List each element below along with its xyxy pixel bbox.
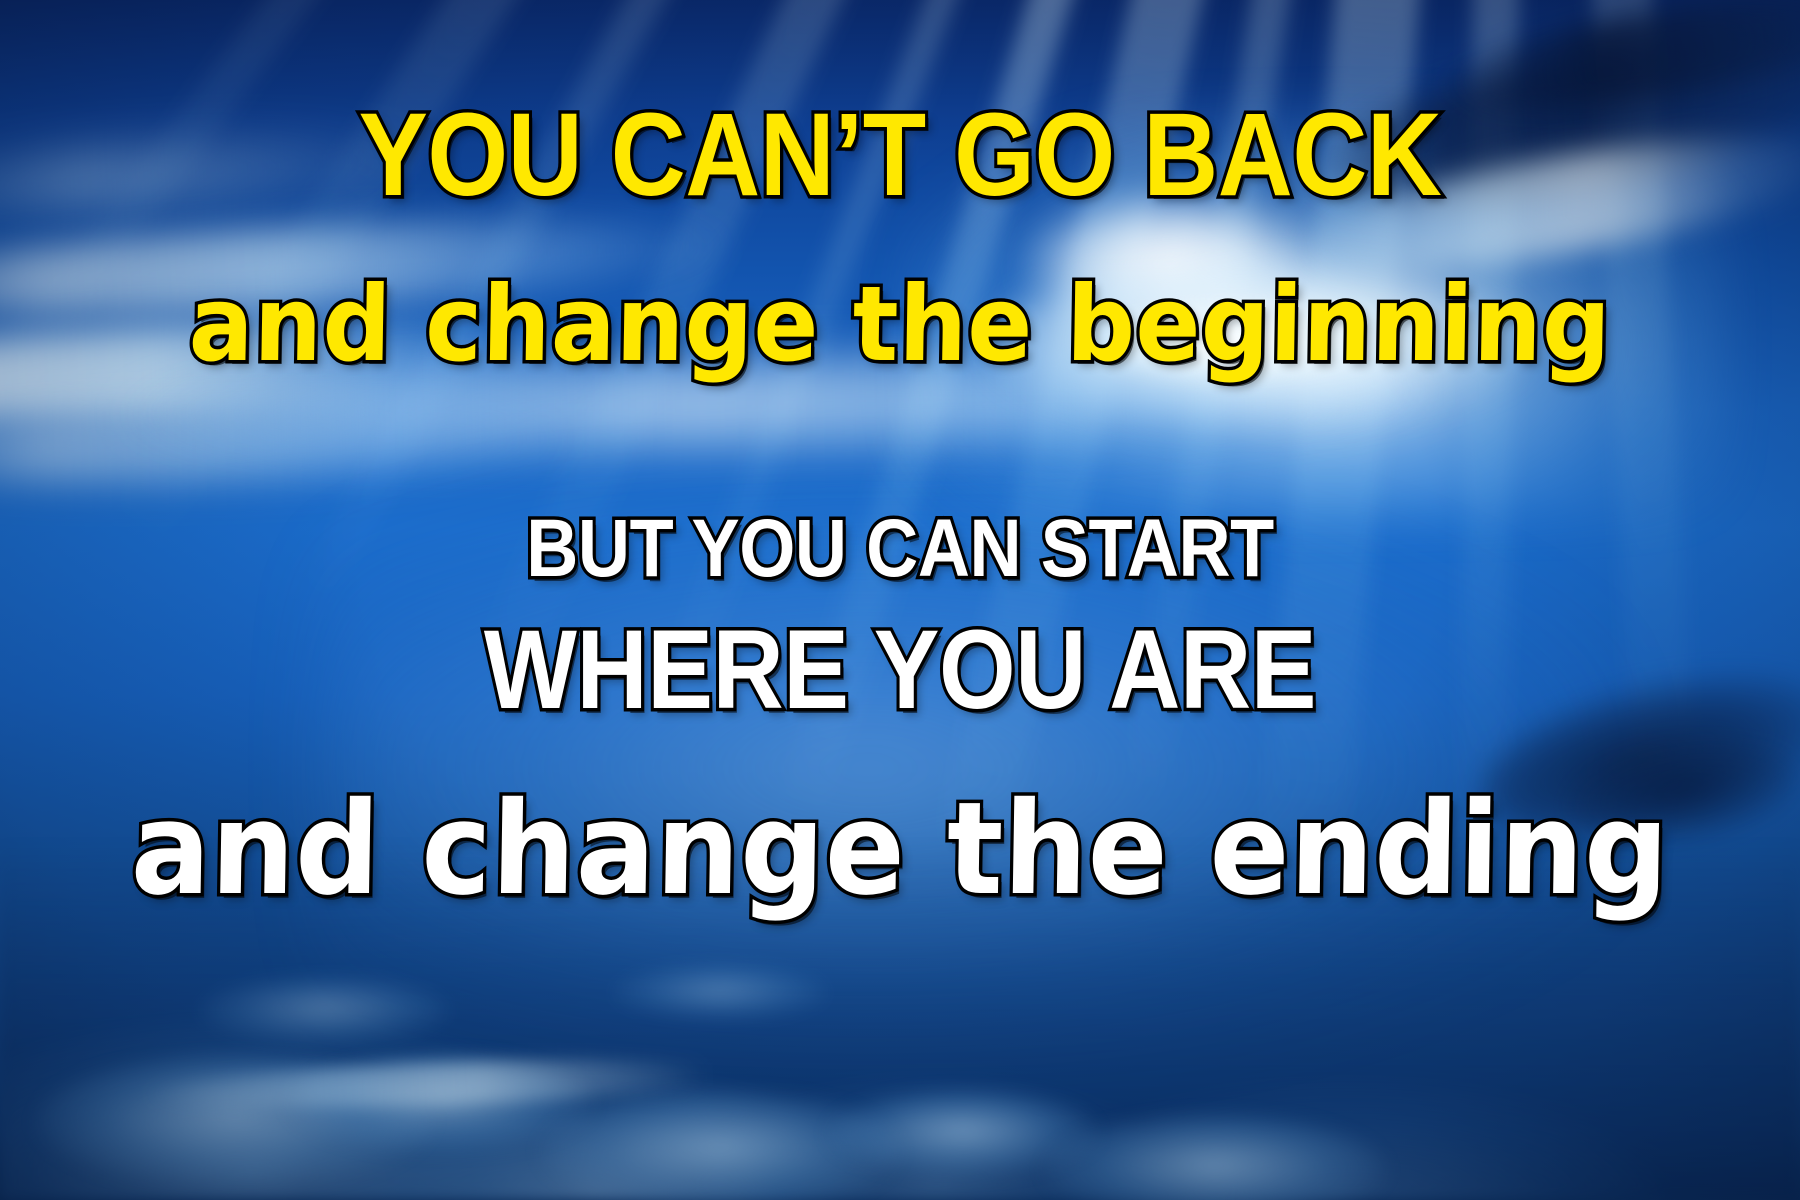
quote-text-block: YOU CAN’T GO BACK and change the beginni… xyxy=(0,0,1800,1200)
quote-line-4: WHERE YOU ARE xyxy=(108,614,1692,726)
quote-line-3: BUT YOU CAN START xyxy=(108,508,1692,590)
quote-line-1: YOU CAN’T GO BACK xyxy=(108,96,1692,214)
quote-poster: YOU CAN’T GO BACK and change the beginni… xyxy=(0,0,1800,1200)
quote-line-2: and change the beginning xyxy=(71,272,1729,376)
quote-line-5: and change the ending xyxy=(71,786,1729,914)
